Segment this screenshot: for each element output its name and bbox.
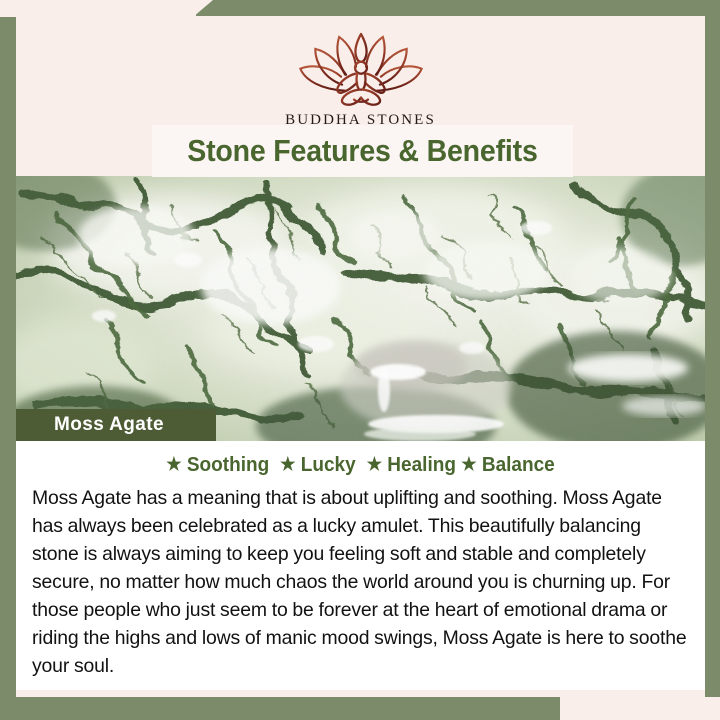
moss-agate-texture-graphic bbox=[16, 176, 705, 441]
frame-band-bottom bbox=[0, 697, 560, 720]
page-frame: BUDDHA STONES Stone Features & Benefits bbox=[0, 0, 720, 720]
benefit-item-1: Lucky bbox=[301, 454, 356, 476]
star-icon: ★ bbox=[280, 453, 295, 476]
benefits-list: ★ Soothing ★ Lucky ★ Healing ★ Balance bbox=[47, 453, 675, 478]
lotus-meditation-figure-icon bbox=[286, 27, 436, 109]
stone-photo bbox=[16, 176, 705, 441]
star-icon: ★ bbox=[166, 453, 181, 476]
frame-notch-top-left-slant bbox=[193, 0, 213, 17]
star-icon: ★ bbox=[367, 453, 382, 476]
stone-name-banner: Moss Agate bbox=[16, 409, 216, 441]
page-title-banner: Stone Features & Benefits bbox=[152, 125, 573, 177]
benefit-item-2: Healing bbox=[387, 454, 456, 476]
content-card: ★ Soothing ★ Lucky ★ Healing ★ Balance M… bbox=[16, 441, 705, 690]
page-title: Stone Features & Benefits bbox=[187, 133, 537, 169]
frame-notch-top-left bbox=[0, 0, 196, 17]
benefit-item-3: Balance bbox=[482, 454, 555, 476]
stone-name: Moss Agate bbox=[54, 414, 164, 436]
frame-notch-bottom-right bbox=[560, 697, 720, 720]
frame-band-left bbox=[0, 17, 16, 720]
benefit-item-0: Soothing bbox=[187, 454, 269, 476]
star-icon: ★ bbox=[461, 453, 476, 476]
stone-description: Moss Agate has a meaning that is about u… bbox=[30, 485, 691, 681]
